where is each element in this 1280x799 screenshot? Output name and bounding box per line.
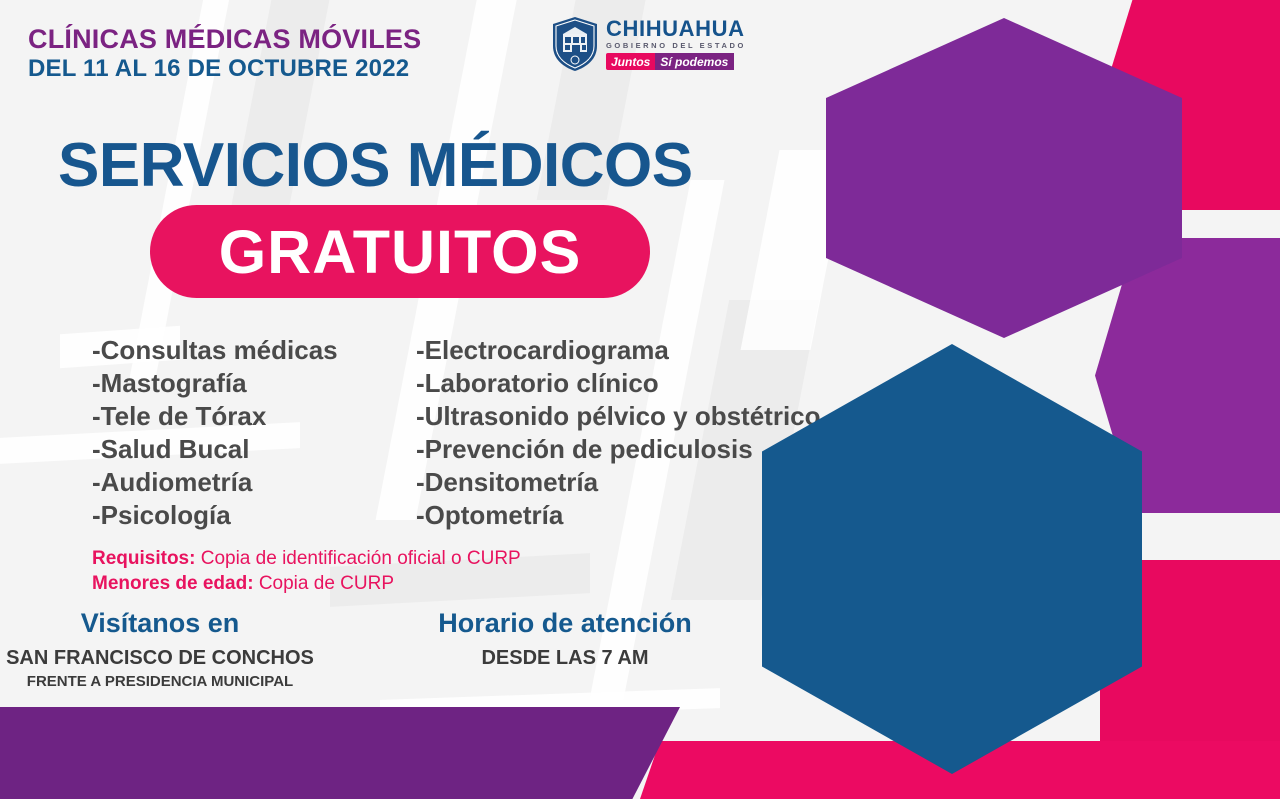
logo-slogan: Juntos Sí podemos <box>606 53 746 70</box>
location-detail: FRENTE A PRESIDENCIA MUNICIPAL <box>0 673 320 690</box>
service-item: -Mastografía <box>92 367 380 400</box>
location-block: Visítanos en SAN FRANCISCO DE CONCHOS FR… <box>0 608 320 690</box>
service-item: -Salud Bucal <box>92 433 380 466</box>
requirement-label: Requisitos: <box>92 548 195 569</box>
page-title: SERVICIOS MÉDICOS <box>58 130 693 201</box>
services-column-right: -Electrocardiograma -Laboratorio clínico… <box>416 334 821 532</box>
service-item: -Prevención de pediculosis <box>416 433 821 466</box>
service-item: -Consultas médicas <box>92 334 380 367</box>
service-item: -Audiometría <box>92 466 380 499</box>
gratuitos-label: GRATUITOS <box>219 217 582 287</box>
service-item: -Ultrasonido pélvico y obstétrico <box>416 400 821 433</box>
services-list: -Consultas médicas -Mastografía -Tele de… <box>92 334 821 532</box>
poster-root: CLÍNICAS MÉDICAS MÓVILES DEL 11 AL 16 DE… <box>0 0 1280 799</box>
service-item: -Psicología <box>92 499 380 532</box>
hexagon-photo-blood-pressure: Juntos por la SALUD <box>762 344 1142 774</box>
logo-subtitle: GOBIERNO DEL ESTADO <box>606 42 746 50</box>
kicker-dates: DEL 11 AL 16 DE OCTUBRE 2022 <box>28 55 409 83</box>
location-name: SAN FRANCISCO DE CONCHOS <box>0 647 320 670</box>
requirement-row: Requisitos: Copia de identificación ofic… <box>92 546 521 571</box>
logo-text-block: CHIHUAHUA GOBIERNO DEL ESTADO Juntos Sí … <box>606 18 746 71</box>
hours-value: DESDE LAS 7 AM <box>400 647 730 670</box>
service-item: -Electrocardiograma <box>416 334 821 367</box>
requirement-value: Copia de identificación oficial o CURP <box>195 548 520 569</box>
requirements-block: Requisitos: Copia de identificación ofic… <box>92 546 521 596</box>
requirement-value: Copia de CURP <box>254 573 394 594</box>
service-item: -Densitometría <box>416 466 821 499</box>
location-heading: Visítanos en <box>0 608 320 639</box>
logo-slogan-first: Juntos <box>606 53 655 70</box>
hours-heading: Horario de atención <box>400 608 730 639</box>
chihuahua-crest-icon <box>551 16 599 72</box>
logo-slogan-second: Sí podemos <box>655 53 734 70</box>
hexagon-photo-dental <box>826 18 1182 338</box>
requirement-row: Menores de edad: Copia de CURP <box>92 571 521 596</box>
hexagon-border-purple <box>826 18 1182 338</box>
services-column-left: -Consultas médicas -Mastografía -Tele de… <box>92 334 380 532</box>
government-logo: CHIHUAHUA GOBIERNO DEL ESTADO Juntos Sí … <box>551 16 746 72</box>
gratuitos-badge: GRATUITOS <box>150 205 650 298</box>
hours-block: Horario de atención DESDE LAS 7 AM <box>400 608 730 670</box>
service-item: -Tele de Tórax <box>92 400 380 433</box>
kicker-title: CLÍNICAS MÉDICAS MÓVILES <box>28 24 421 55</box>
decoration-bar-purple <box>0 707 680 799</box>
hexagon-border-blue <box>762 344 1142 774</box>
service-item: -Laboratorio clínico <box>416 367 821 400</box>
service-item: -Optometría <box>416 499 821 532</box>
requirement-label: Menores de edad: <box>92 573 254 594</box>
logo-state-name: CHIHUAHUA <box>606 18 746 40</box>
